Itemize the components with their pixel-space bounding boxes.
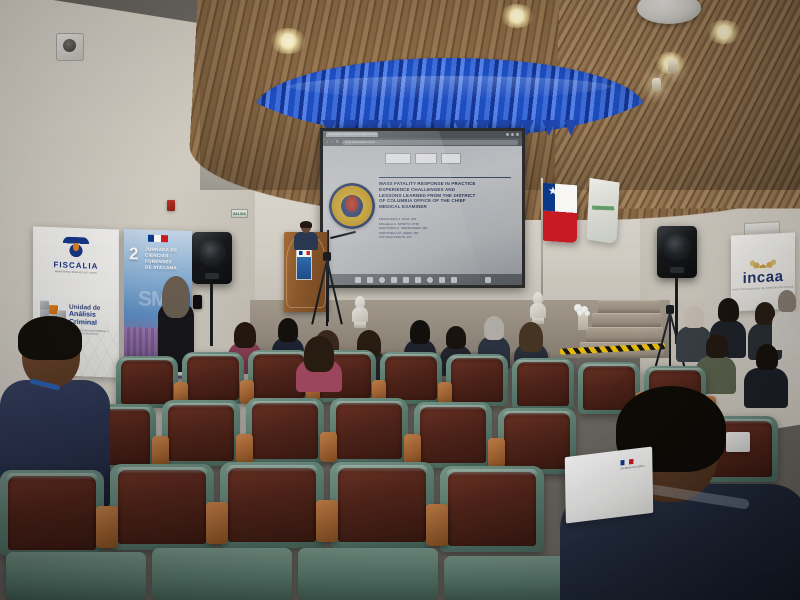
seat-armrest	[404, 434, 421, 464]
leave-icon[interactable]	[485, 277, 491, 283]
seat-armrest	[488, 438, 505, 468]
podium-sign	[296, 248, 312, 280]
chile-flag	[543, 183, 577, 243]
auditorium-photo: SALIDA Presentation Meeting Zoom Share S…	[0, 0, 800, 600]
chile-flag-icon	[621, 459, 634, 466]
seat-cushion	[152, 548, 292, 600]
downlight-icon	[707, 20, 741, 44]
auditorium-seat	[110, 464, 214, 550]
auditorium-seat	[0, 470, 104, 556]
pa-speaker-right	[657, 226, 697, 278]
slide-content: MASS FATALITY RESPONSE IN PRACTICE EXPER…	[323, 146, 522, 285]
presenter-at-podium	[294, 222, 318, 248]
slide-author-list: FRANCISCO J. DIAZ, MD MICAELA C. SPIRITO…	[379, 217, 516, 240]
pa-speaker-left	[192, 232, 232, 284]
auditorium-seat	[330, 398, 408, 464]
auditorium-seat	[162, 400, 240, 466]
video-icon[interactable]	[367, 277, 373, 283]
author-line: TATYANA ZHAVIN, DO	[379, 235, 516, 240]
meeting-toolbar	[323, 274, 522, 285]
browser-tab-bar: Presentation Meeting Zoom Share Screen	[323, 131, 522, 138]
institutional-flag	[586, 178, 619, 244]
flower-arrangement	[572, 304, 594, 330]
downlight-icon	[270, 28, 306, 54]
attendee-right-group	[772, 290, 800, 350]
reload-icon[interactable]: ↻	[336, 140, 339, 144]
incaa-name: incaa	[743, 268, 784, 285]
jornada-number: 2	[129, 245, 138, 262]
stage-valance-curtain	[255, 58, 645, 138]
ocme-logo	[415, 153, 437, 164]
seat-armrest	[96, 506, 118, 548]
attendee-row-3	[296, 336, 342, 392]
seat-armrest	[206, 502, 228, 544]
reactions-icon[interactable]	[439, 277, 445, 283]
browser-tab[interactable]: Presentation Meeting Zoom Share Screen	[326, 132, 378, 137]
marble-bust-right	[530, 292, 546, 324]
track-light-icon	[652, 78, 661, 92]
fire-alarm-icon	[167, 200, 175, 211]
slide-divider	[379, 177, 511, 178]
downlight-icon	[500, 4, 534, 28]
slide-logo-row	[327, 152, 518, 165]
auditorium-seat	[446, 354, 508, 406]
auditorium-seat	[220, 462, 324, 548]
exit-sign-label: SALIDA	[233, 212, 246, 216]
seat-armrest	[426, 504, 448, 546]
smartphone-icon	[193, 295, 202, 309]
auditorium-seat	[182, 352, 244, 404]
chile-flag-icon	[299, 251, 310, 255]
auditorium-seat	[246, 398, 324, 464]
seat-armrest	[316, 500, 338, 542]
dc-gov-logo	[385, 153, 411, 164]
seat-armrest	[236, 434, 253, 464]
speaker-stand	[210, 284, 213, 346]
handout-label: Ministerio de Justicia	[621, 464, 649, 471]
forward-icon[interactable]: ›	[331, 140, 332, 144]
chat-icon[interactable]	[403, 277, 409, 283]
slide-title-line: MEDICAL EXAMINER	[379, 204, 516, 210]
camera-equipment	[726, 432, 750, 452]
seat-cushion	[6, 552, 146, 600]
exit-sign: SALIDA	[231, 209, 248, 218]
mic-icon[interactable]	[355, 277, 361, 283]
browser-url-bar: ‹ › ↻ meet.presentation.zoom	[323, 138, 522, 146]
seat-cushion	[298, 548, 438, 600]
auditorium-seat	[414, 402, 492, 468]
window-maximize-icon[interactable]	[511, 133, 514, 136]
auditorium-seat	[380, 352, 442, 404]
incaa-ornament-icon	[750, 254, 776, 268]
partner-logo	[441, 153, 461, 164]
back-icon[interactable]: ‹	[327, 140, 328, 144]
seat-armrest	[152, 436, 169, 466]
track-light-icon	[668, 60, 677, 74]
camera-tripod	[312, 252, 342, 326]
program-handout: Ministerio de Justicia	[565, 446, 654, 523]
seat-armrest	[320, 432, 337, 462]
projection-screen: Presentation Meeting Zoom Share Screen ‹…	[320, 128, 525, 288]
dc-ocme-seal-icon	[329, 183, 375, 229]
record-icon[interactable]	[427, 277, 433, 283]
participants-icon[interactable]	[391, 277, 397, 283]
jornada-line-3: DE ATACAMA	[145, 265, 190, 272]
auditorium-seat	[440, 466, 544, 552]
marble-bust-left	[352, 296, 368, 328]
jornada-title: JORNADA DE CIENCIAS FORENSES DE ATACAMA	[145, 247, 190, 272]
share-screen-icon[interactable]	[415, 277, 421, 283]
security-icon[interactable]	[379, 277, 385, 283]
address-bar[interactable]: meet.presentation.zoom	[342, 140, 518, 145]
slide-title: MASS FATALITY RESPONSE IN PRACTICE EXPER…	[379, 181, 516, 210]
fiscalia-logo-icon	[63, 237, 89, 260]
seat-cushion	[444, 556, 574, 600]
window-close-icon[interactable]	[516, 133, 519, 136]
window-minimize-icon[interactable]	[506, 133, 509, 136]
auditorium-seat	[330, 462, 434, 548]
apps-icon[interactable]	[451, 277, 457, 283]
chile-flag-icon	[148, 235, 168, 243]
wall-speaker	[56, 33, 84, 61]
